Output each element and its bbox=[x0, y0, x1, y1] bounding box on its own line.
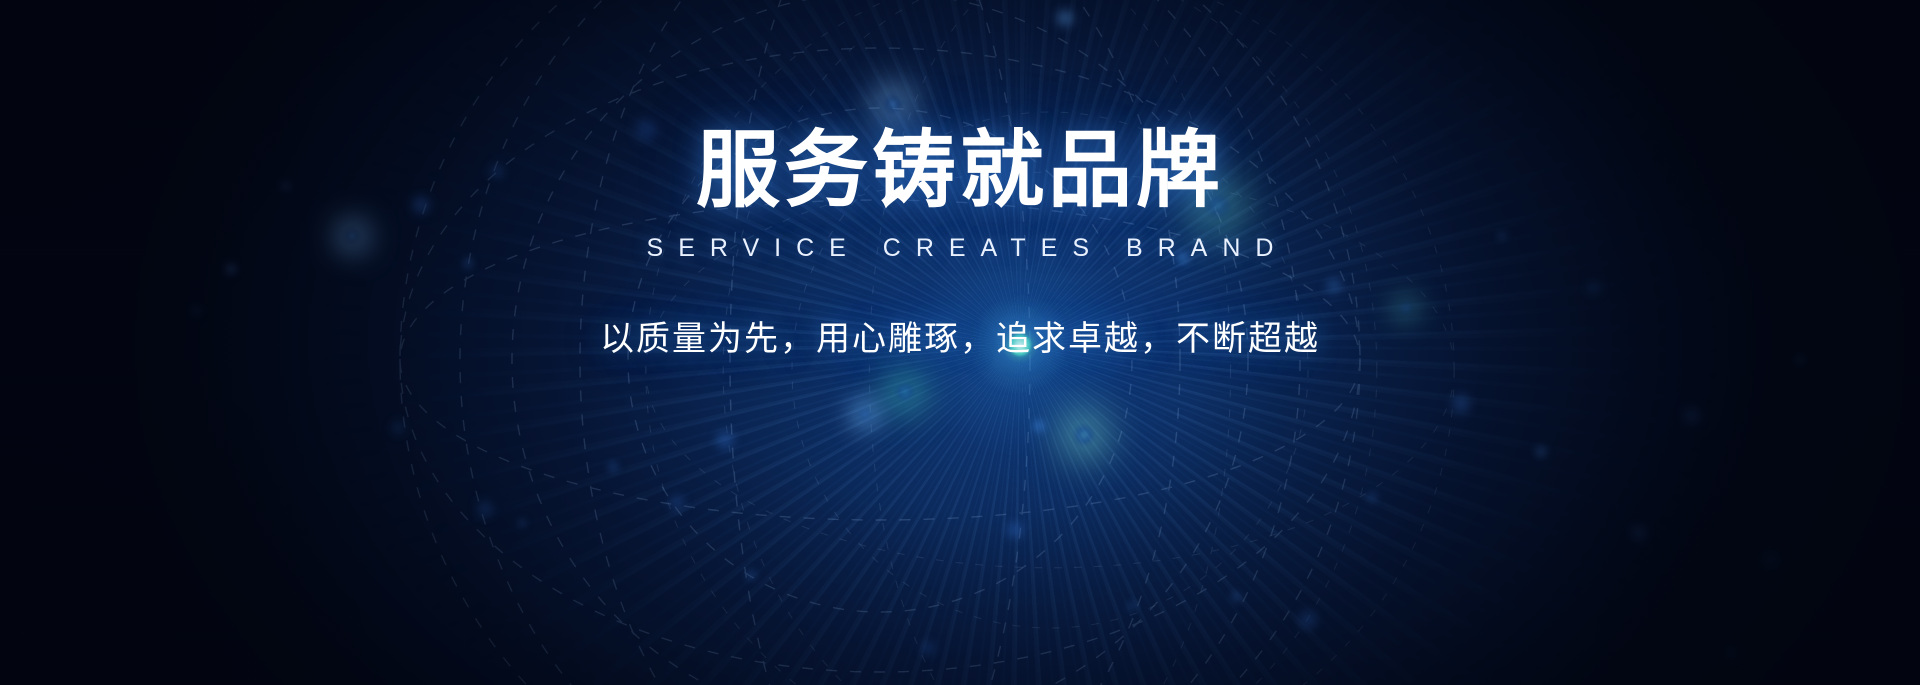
bokeh-particle bbox=[922, 642, 934, 654]
bokeh-particle bbox=[1452, 395, 1470, 413]
bokeh-particle bbox=[1231, 592, 1241, 602]
glow-particle bbox=[860, 409, 870, 419]
bokeh-particle bbox=[392, 422, 404, 434]
banner-content: 服务铸就品牌 SERVICE CREATES BRAND 以质量为先，用心雕琢，… bbox=[0, 0, 1920, 360]
glow-particle bbox=[898, 385, 912, 399]
banner-tagline: 以质量为先，用心雕琢，追求卓越，不断超越 bbox=[0, 311, 1920, 360]
bokeh-particle bbox=[1725, 646, 1737, 658]
bokeh-particle bbox=[477, 501, 493, 517]
banner-headline: 服务铸就品牌 bbox=[0, 128, 1920, 212]
bokeh-particle bbox=[1128, 602, 1136, 610]
bokeh-particle bbox=[1535, 446, 1547, 458]
bokeh-particle bbox=[1367, 492, 1377, 502]
bokeh-particle bbox=[746, 570, 756, 580]
bokeh-particle bbox=[1684, 408, 1700, 424]
bokeh-particle bbox=[1761, 550, 1781, 570]
bokeh-particle bbox=[716, 431, 734, 449]
bokeh-particle bbox=[1299, 611, 1317, 629]
bokeh-particle bbox=[670, 496, 684, 510]
banner-subtitle: SERVICE CREATES BRAND bbox=[0, 234, 1920, 263]
bokeh-particle bbox=[608, 462, 618, 472]
bokeh-particle bbox=[1033, 420, 1045, 432]
bokeh-particle bbox=[1007, 522, 1023, 538]
glow-particle bbox=[1076, 427, 1092, 443]
bokeh-particle bbox=[1632, 526, 1646, 540]
hero-banner: 服务铸就品牌 SERVICE CREATES BRAND 以质量为先，用心雕琢，… bbox=[0, 0, 1920, 685]
bokeh-particle bbox=[518, 519, 526, 527]
